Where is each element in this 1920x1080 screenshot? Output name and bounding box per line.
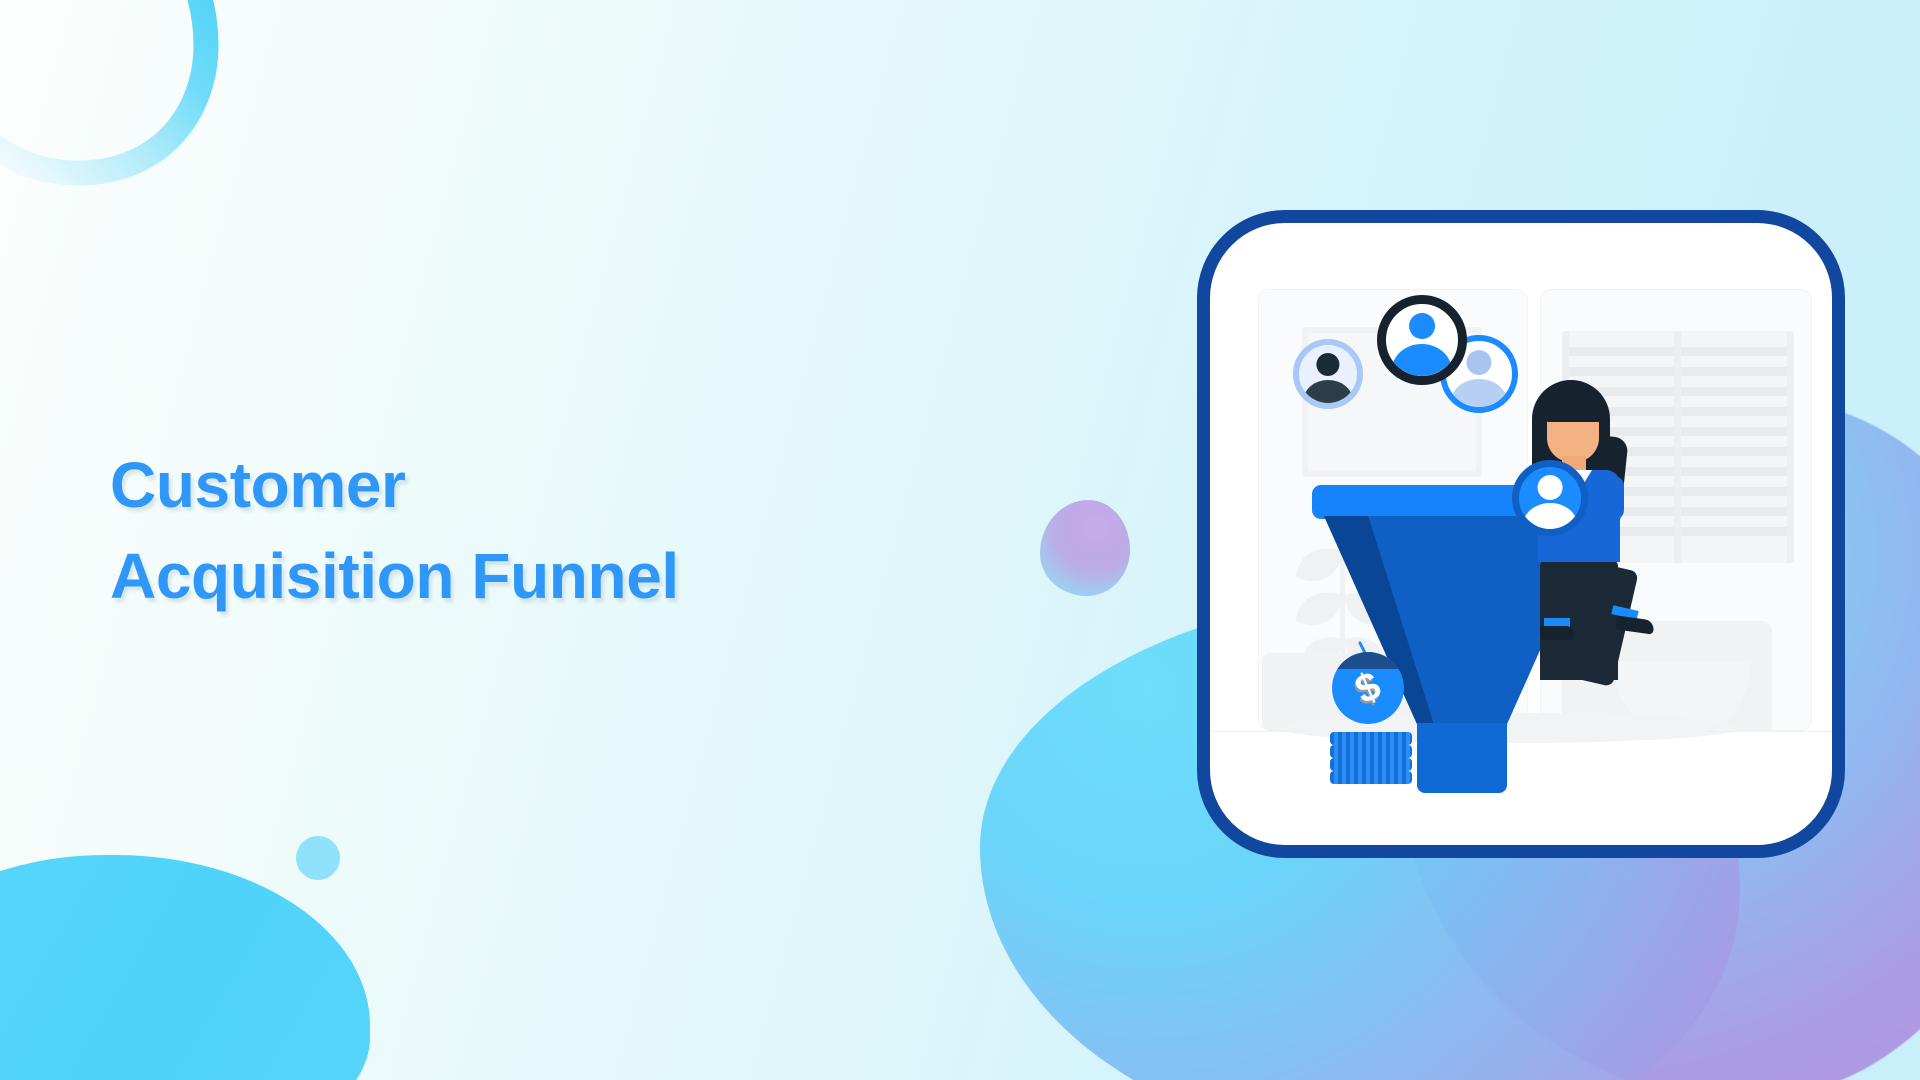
hair-front xyxy=(1540,388,1606,422)
page-title-line-1: Customer xyxy=(110,440,870,531)
slide-canvas: Customer Acquisition Funnel xyxy=(0,0,1920,1080)
avatar-ring-light xyxy=(1293,339,1363,409)
funnel-neck xyxy=(1417,723,1507,793)
page-title-line-2: Acquisition Funnel xyxy=(110,531,870,622)
dollar-coin: $ xyxy=(1332,652,1404,724)
page-title-accessible: Customer Acquisition Funnel xyxy=(0,0,1,1)
bottom-left-cyan-blob xyxy=(0,855,370,1080)
belt xyxy=(1538,552,1620,562)
shoe-left xyxy=(1540,626,1574,640)
avatar-outlined-dark xyxy=(1377,295,1467,385)
avatar-badge-held xyxy=(1512,460,1588,536)
sleeve xyxy=(1596,476,1624,520)
dollar-symbol: $ xyxy=(1332,652,1404,724)
small-iridescent-egg-blob xyxy=(1040,500,1130,596)
coin-stack xyxy=(1330,732,1412,784)
curved-hook-swirl-icon xyxy=(0,0,270,205)
page-title: Customer Acquisition Funnel xyxy=(110,440,870,622)
bottom-left-cyan-dot xyxy=(296,836,340,880)
